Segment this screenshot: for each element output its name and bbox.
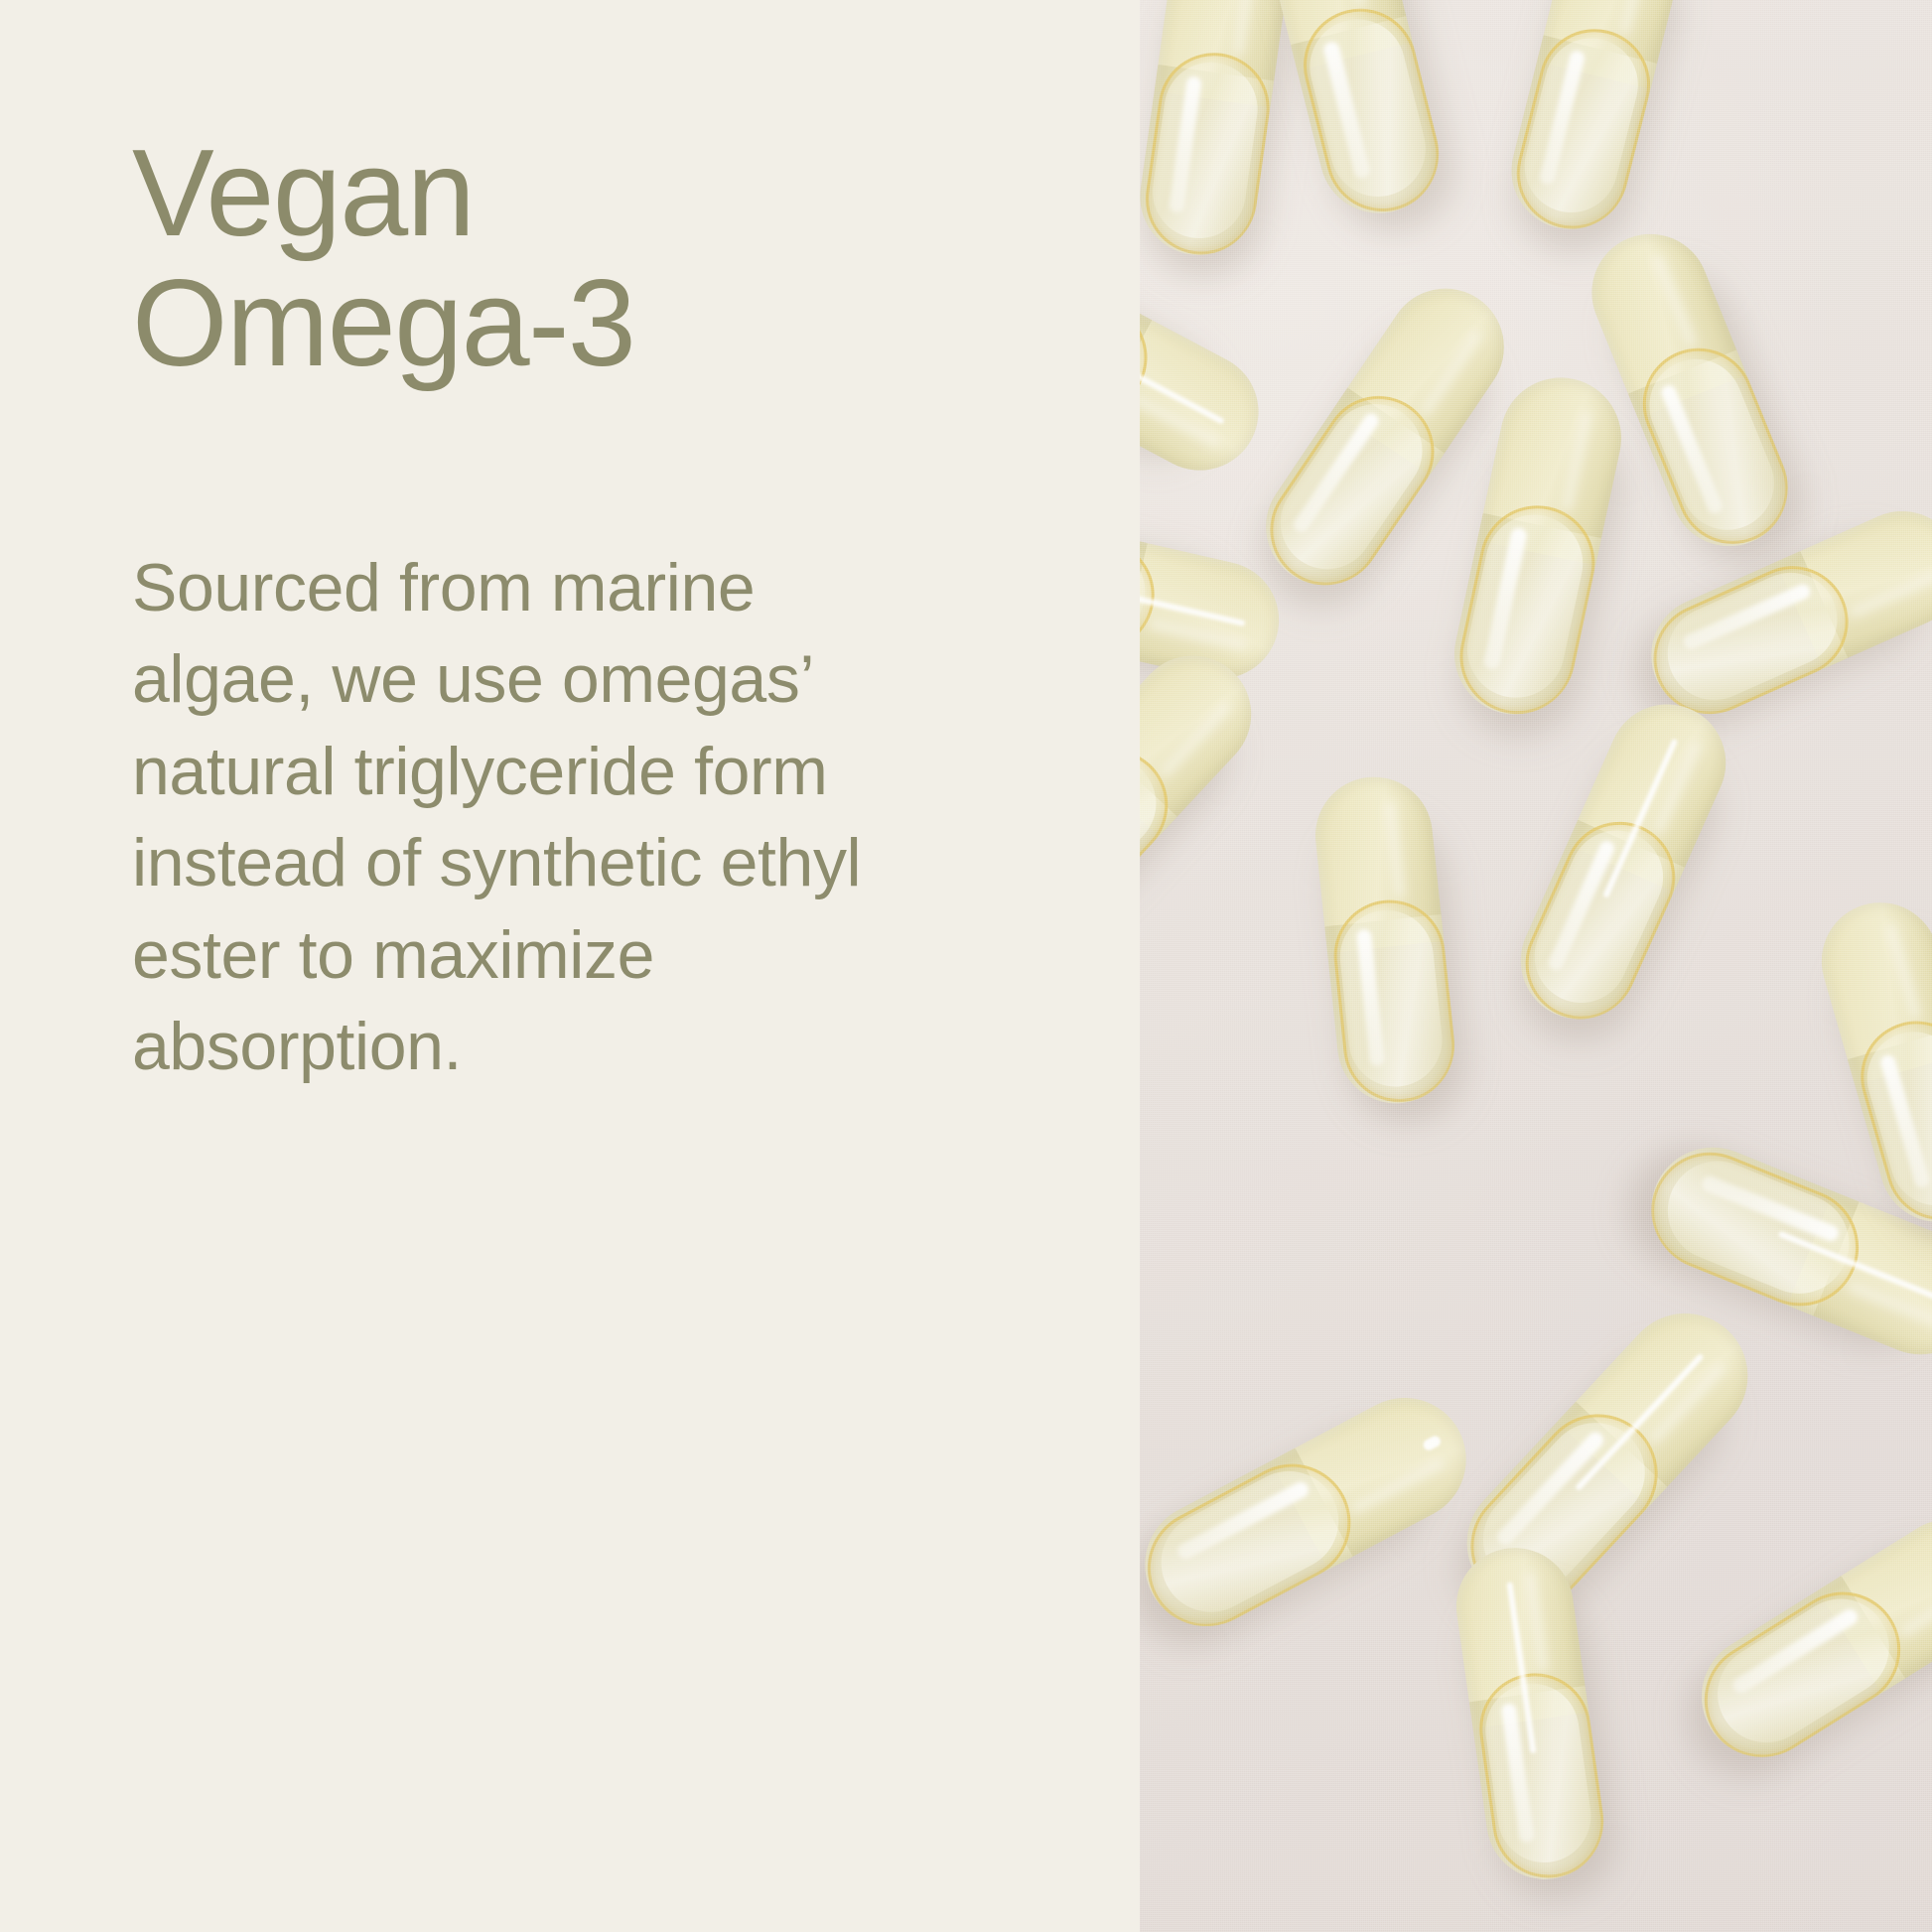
body-paragraph: Sourced from marine algae, we use omegas… <box>132 542 887 1093</box>
product-photo <box>1140 0 1932 1932</box>
capsule <box>1499 0 1692 241</box>
capsule <box>1449 1540 1611 1886</box>
poster-canvas: Vegan Omega-3 Sourced from marine algae,… <box>0 0 1932 1932</box>
capsule <box>1502 686 1744 1038</box>
capsule <box>1808 889 1932 1236</box>
page-title: Vegan Omega-3 <box>132 129 1026 390</box>
capsule <box>1679 1496 1932 1780</box>
capsule <box>1140 0 1294 263</box>
capsule <box>1310 771 1460 1110</box>
capsule <box>1140 1376 1488 1648</box>
text-panel: Vegan Omega-3 Sourced from marine algae,… <box>0 0 1140 1932</box>
